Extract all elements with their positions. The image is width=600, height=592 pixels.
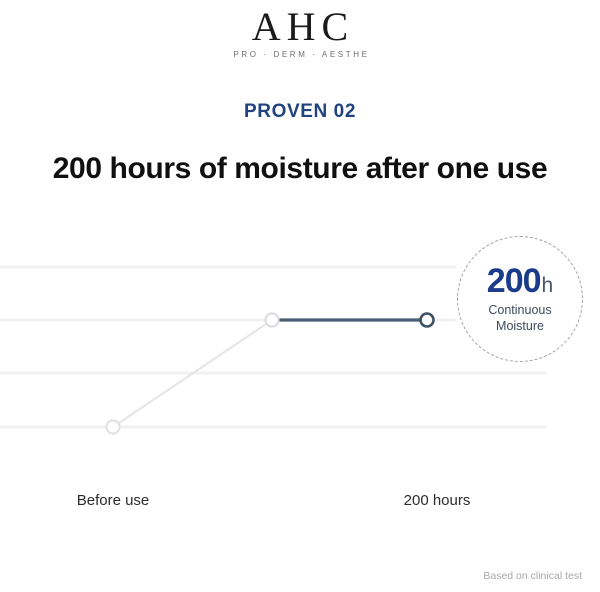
badge-value: 200 h	[487, 264, 553, 298]
promo-infographic: AHC PRO · DERM · AESTHE PROVEN 02 200 ho…	[0, 0, 600, 592]
x-axis-label-200-hours: 200 hours	[404, 492, 471, 509]
badge-unit: h	[542, 275, 554, 296]
x-axis-label-before-use: Before use	[77, 492, 150, 509]
badge-caption-line-1: Continuous	[488, 303, 551, 318]
chart-data-point-after-one-use	[266, 314, 279, 327]
badge-number: 200	[487, 264, 541, 298]
chart-data-point-200-hours	[421, 314, 434, 327]
chart-data-point-before-use	[107, 421, 120, 434]
brand-wordmark: AHC	[0, 6, 600, 48]
footnote-clinical-test: Based on clinical test	[483, 570, 582, 582]
continuous-moisture-badge: 200 h Continuous Moisture	[457, 236, 583, 362]
chart-x-axis-labels: Before use 200 hours	[0, 492, 600, 516]
badge-caption-line-2: Moisture	[488, 319, 551, 334]
page-title: 200 hours of moisture after one use	[0, 152, 600, 186]
brand-tagline: PRO · DERM · AESTHE	[0, 50, 600, 59]
brand-logo: AHC PRO · DERM · AESTHE	[0, 6, 600, 59]
section-eyebrow: PROVEN 02	[0, 101, 600, 123]
badge-caption: Continuous Moisture	[488, 303, 551, 334]
